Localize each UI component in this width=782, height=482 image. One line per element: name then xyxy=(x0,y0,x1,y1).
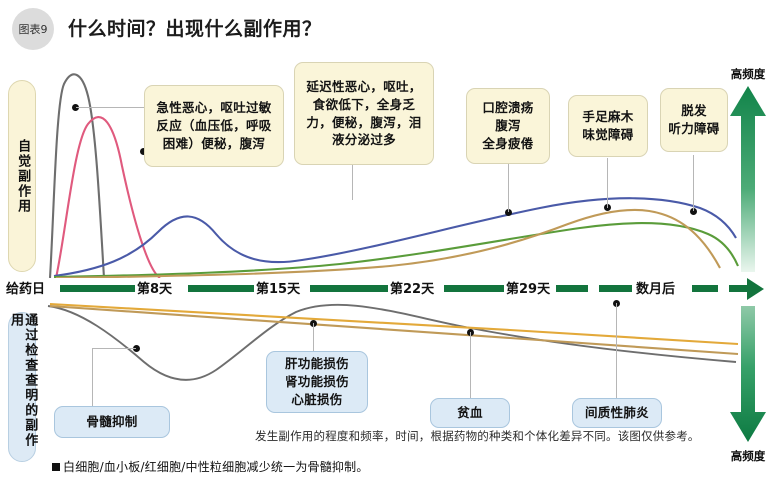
timeline-segment-6b xyxy=(729,285,747,292)
timeline-segment-4 xyxy=(444,285,504,292)
frequency-indicator-bottom: 高频度 xyxy=(718,304,778,464)
bullet-square-icon xyxy=(52,463,60,471)
arrow-down-icon xyxy=(728,304,768,446)
callout-delayed-symptoms: 延迟性恶心，呕吐，食欲低下，全身乏力，便秘，腹泻，泪液分泌过多 xyxy=(294,62,434,165)
timeline-segment-2 xyxy=(188,285,254,292)
leader-line-alopecia xyxy=(693,155,694,211)
timeline-segment-5a xyxy=(556,285,588,292)
timeline-label-dosing-day: 给药日 xyxy=(6,278,45,297)
callout-anemia: 贫血 xyxy=(430,398,510,428)
footer-note-text: 白细胞/血小板/红细胞/中性粒细胞减少统一为骨髓抑制。 xyxy=(63,460,369,474)
timeline-break-2: 〉 xyxy=(718,280,729,297)
axis-label-lab-findings: 通过检查查明的副作用 xyxy=(8,312,36,462)
leader-line-myelo-v xyxy=(92,348,93,406)
timeline-label-day15: 第15天 xyxy=(256,278,300,297)
callout-organ-damage: 肝功能损伤肾功能损伤心脏损伤 xyxy=(266,351,368,413)
timeline-segment-1 xyxy=(60,285,135,292)
axis-label-subjective: 自觉副作用 xyxy=(8,80,36,272)
figure-badge: 图表9 xyxy=(12,8,54,50)
page-header: 图表9 什么时间？出现什么副作用？ xyxy=(0,0,782,52)
leader-line-anemia xyxy=(470,332,471,398)
leader-line-mucositis xyxy=(508,160,509,212)
leader-line-myelo-h xyxy=(92,348,136,349)
callout-mucositis: 口腔溃疡腹泻全身疲倦 xyxy=(466,88,550,164)
disclaimer-note: 发生副作用的程度和频率，时间，根据药物的种类和个体化差异不同。该图仅供参考。 xyxy=(255,428,700,444)
curve-neuropathy-green xyxy=(54,223,738,277)
leader-line-delayed2 xyxy=(352,165,353,200)
page-title: 什么时间？出现什么副作用？ xyxy=(68,14,322,41)
timeline-label-day29: 第29天 xyxy=(506,278,550,297)
curve-myelosuppression-gray xyxy=(48,305,736,380)
curve-alopecia-tan xyxy=(56,210,720,278)
callout-neuropathy: 手足麻木味觉障碍 xyxy=(568,95,648,157)
timeline-label-months: 数月后 xyxy=(636,278,675,297)
timeline-arrow-icon xyxy=(747,278,764,300)
timeline-segment-3 xyxy=(310,285,388,292)
leader-line-neuropathy xyxy=(607,158,608,208)
leader-line-acute xyxy=(76,107,144,108)
callout-acute-symptoms: 急性恶心，呕吐过敏反应（血压低，呼吸困难）便秘，腹泻 xyxy=(144,85,284,167)
leader-line-pneumonitis xyxy=(616,303,617,398)
frequency-label-top: 高频度 xyxy=(718,66,778,82)
curve-organ-orange xyxy=(50,304,738,344)
callout-pneumonitis: 间质性肺炎 xyxy=(572,398,662,428)
timeline-label-day22: 第22天 xyxy=(390,278,434,297)
leader-line-organ xyxy=(313,323,314,351)
frequency-indicator-top: 高频度 xyxy=(718,66,778,274)
timeline-break-1: 〉 xyxy=(588,280,599,297)
timeline-segment-6a xyxy=(692,285,718,292)
callout-myelosuppression: 骨髓抑制 xyxy=(54,406,170,438)
timeline-segment-5b xyxy=(599,285,632,292)
frequency-label-bottom: 高频度 xyxy=(718,448,778,464)
timeline-axis: 给药日 第8天 第15天 第22天 第29天 〉 数月后 〉 xyxy=(0,276,782,300)
arrow-up-icon xyxy=(728,82,768,274)
footer-note: 白细胞/血小板/红细胞/中性粒细胞减少统一为骨髓抑制。 xyxy=(52,458,369,475)
curve-anemia-tan xyxy=(50,306,738,354)
timeline-label-day8: 第8天 xyxy=(137,278,172,297)
